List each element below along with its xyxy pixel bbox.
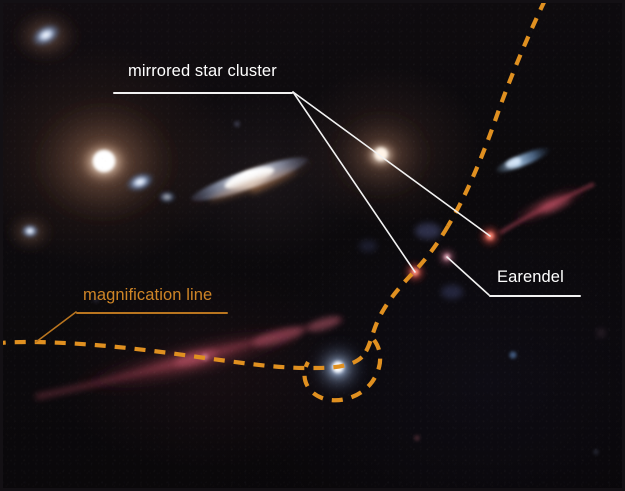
rule-earendel	[489, 295, 581, 297]
astronomy-image-figure: mirrored star cluster Earendel magnifica…	[0, 0, 625, 491]
leader-line-earendel-0	[447, 257, 489, 295]
leader-line-mirrored-star-cluster-1	[293, 92, 490, 236]
label-magnification-line: magnification line	[83, 286, 212, 305]
rule-mirrored-star-cluster	[113, 92, 293, 94]
label-mirrored-star-cluster: mirrored star cluster	[128, 62, 277, 81]
label-earendel: Earendel	[497, 268, 564, 287]
rule-magnification-line	[76, 312, 228, 314]
leader-line-magnification-line-0	[36, 312, 76, 342]
leader-line-mirrored-star-cluster-0	[293, 92, 415, 272]
leader-lines-layer	[0, 0, 625, 491]
